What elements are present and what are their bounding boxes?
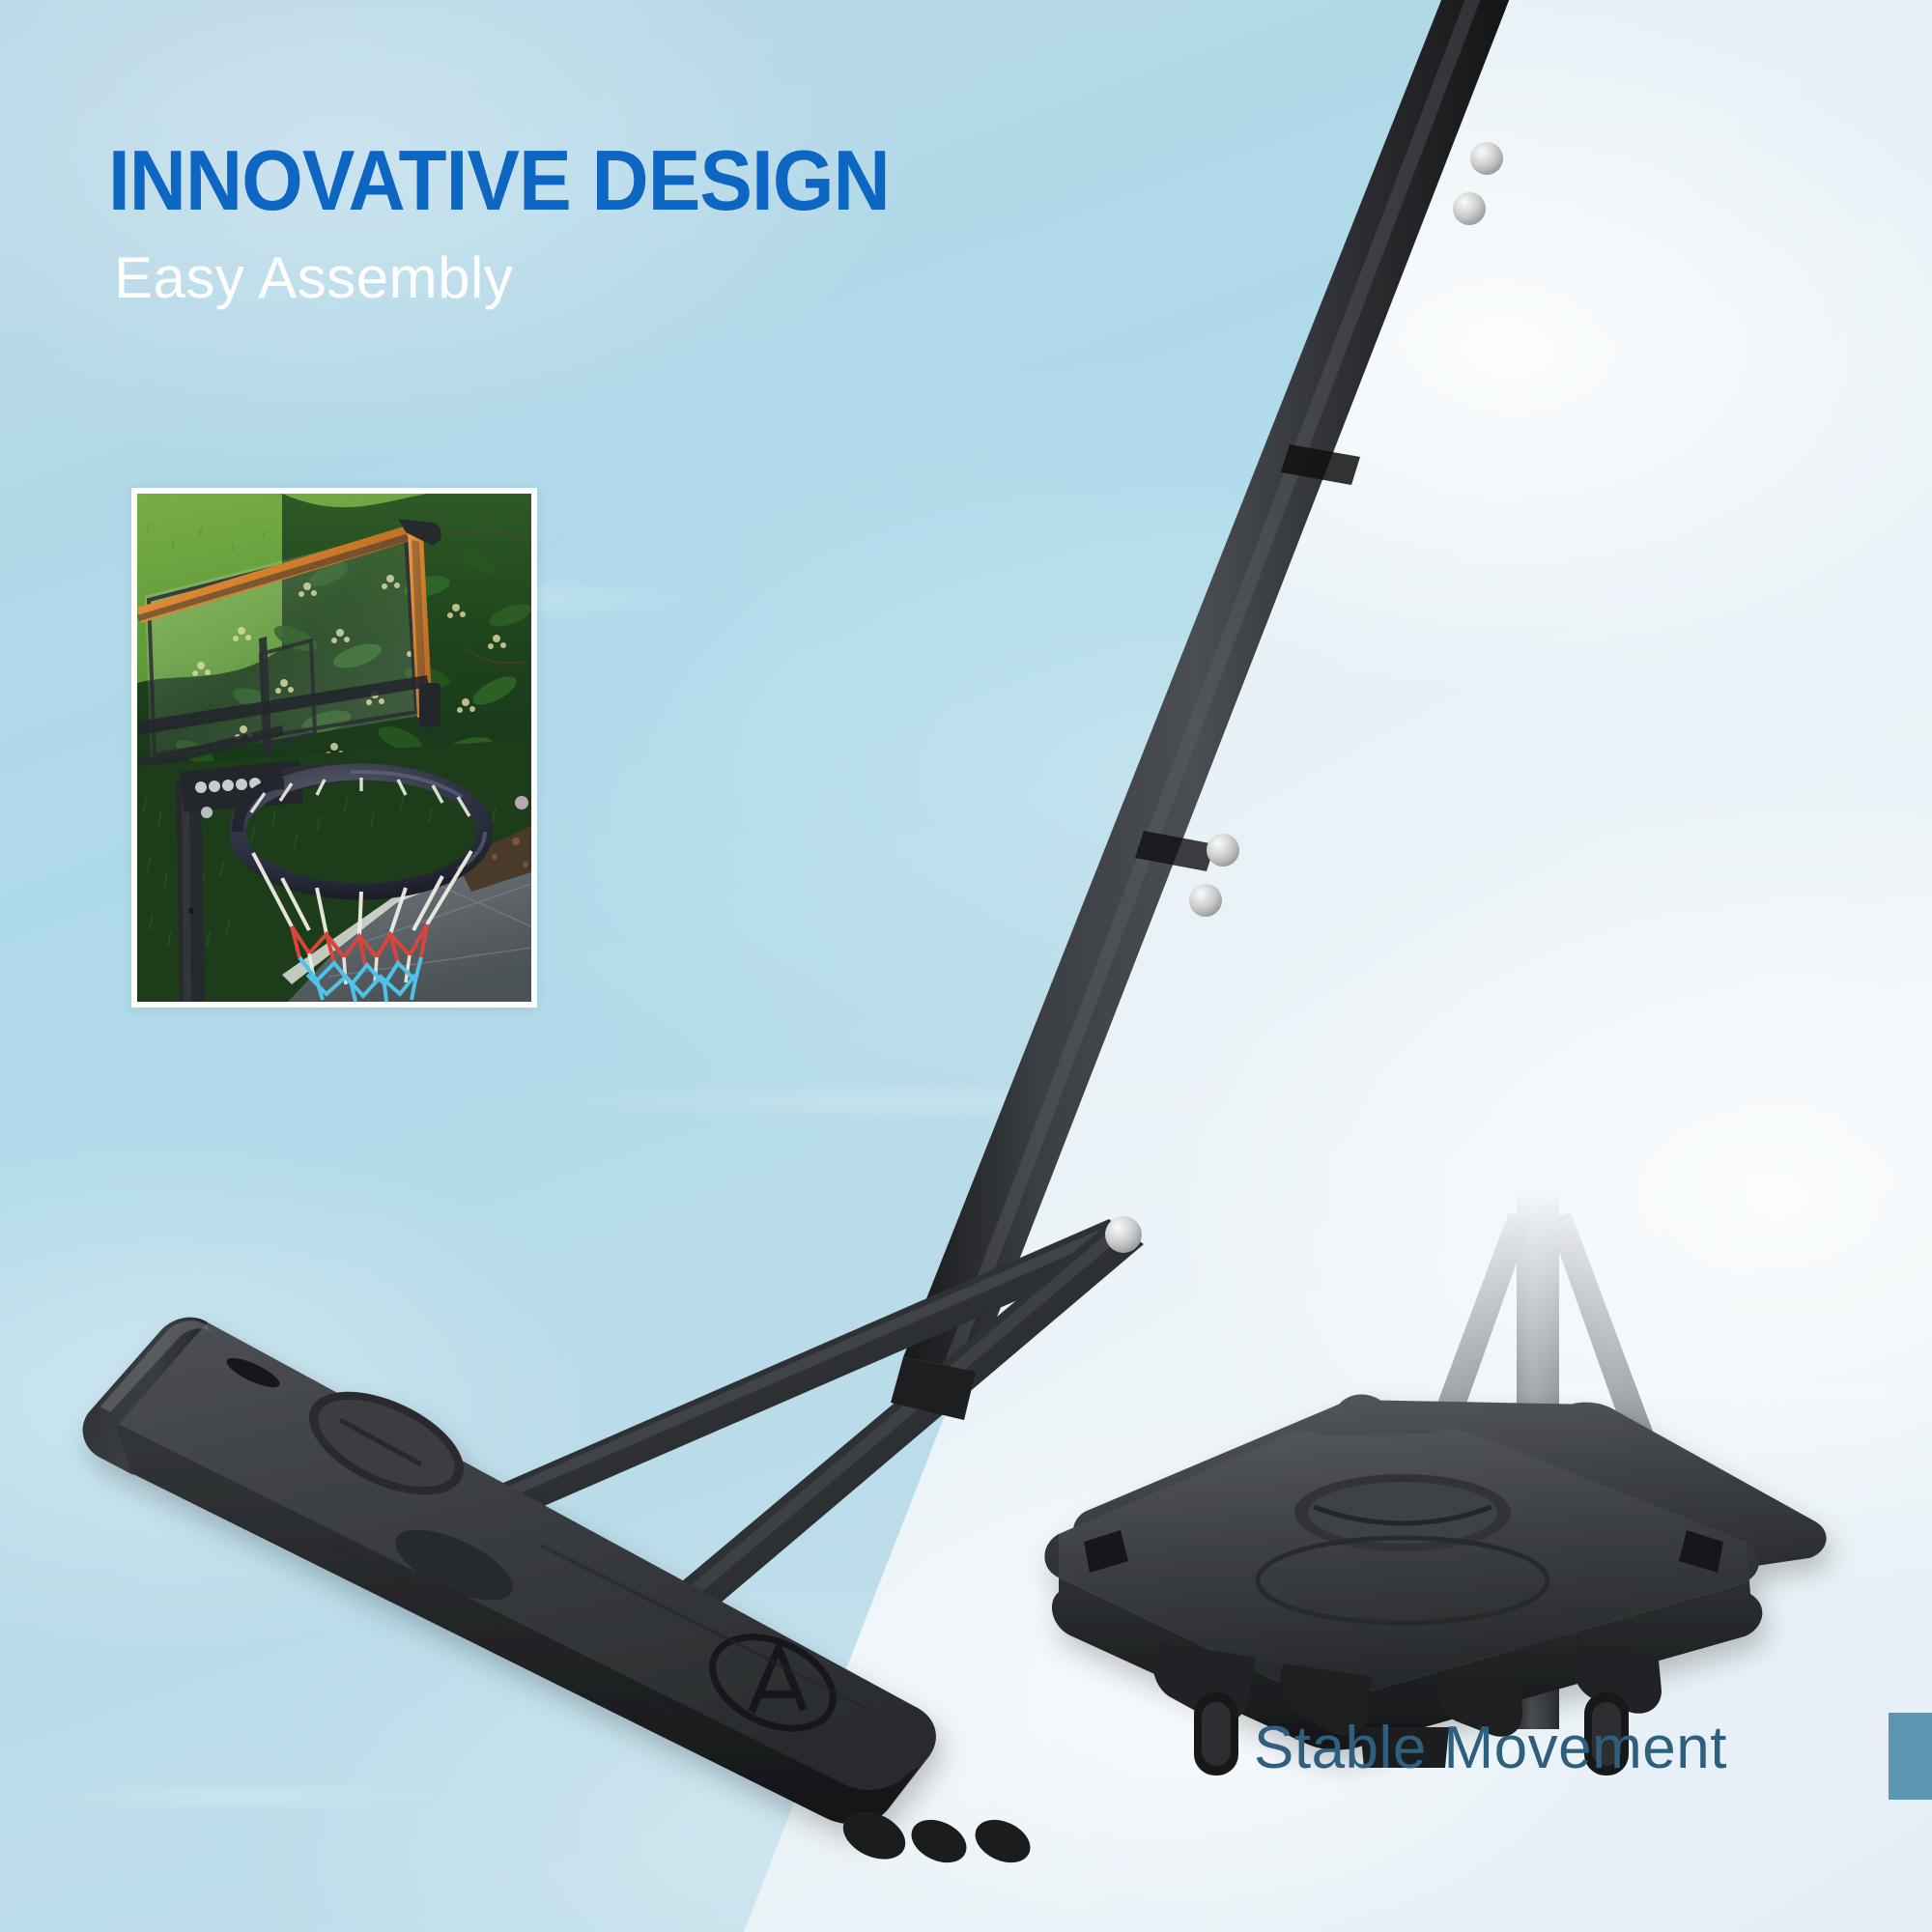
caption-stable-movement: Stable Movement: [1254, 1719, 1727, 1778]
subheadline-easy-assembly: Easy Assembly: [114, 249, 513, 307]
inset-photo-backboard-and-rim: [131, 488, 537, 1008]
support-pole: [176, 780, 205, 1002]
accent-color-block: [1889, 1713, 1932, 1800]
page-title-headline: INNOVATIVE DESIGN: [108, 138, 890, 223]
product-feature-banner: INNOVATIVE DESIGN Easy Assembly Stable M…: [0, 0, 1932, 1932]
